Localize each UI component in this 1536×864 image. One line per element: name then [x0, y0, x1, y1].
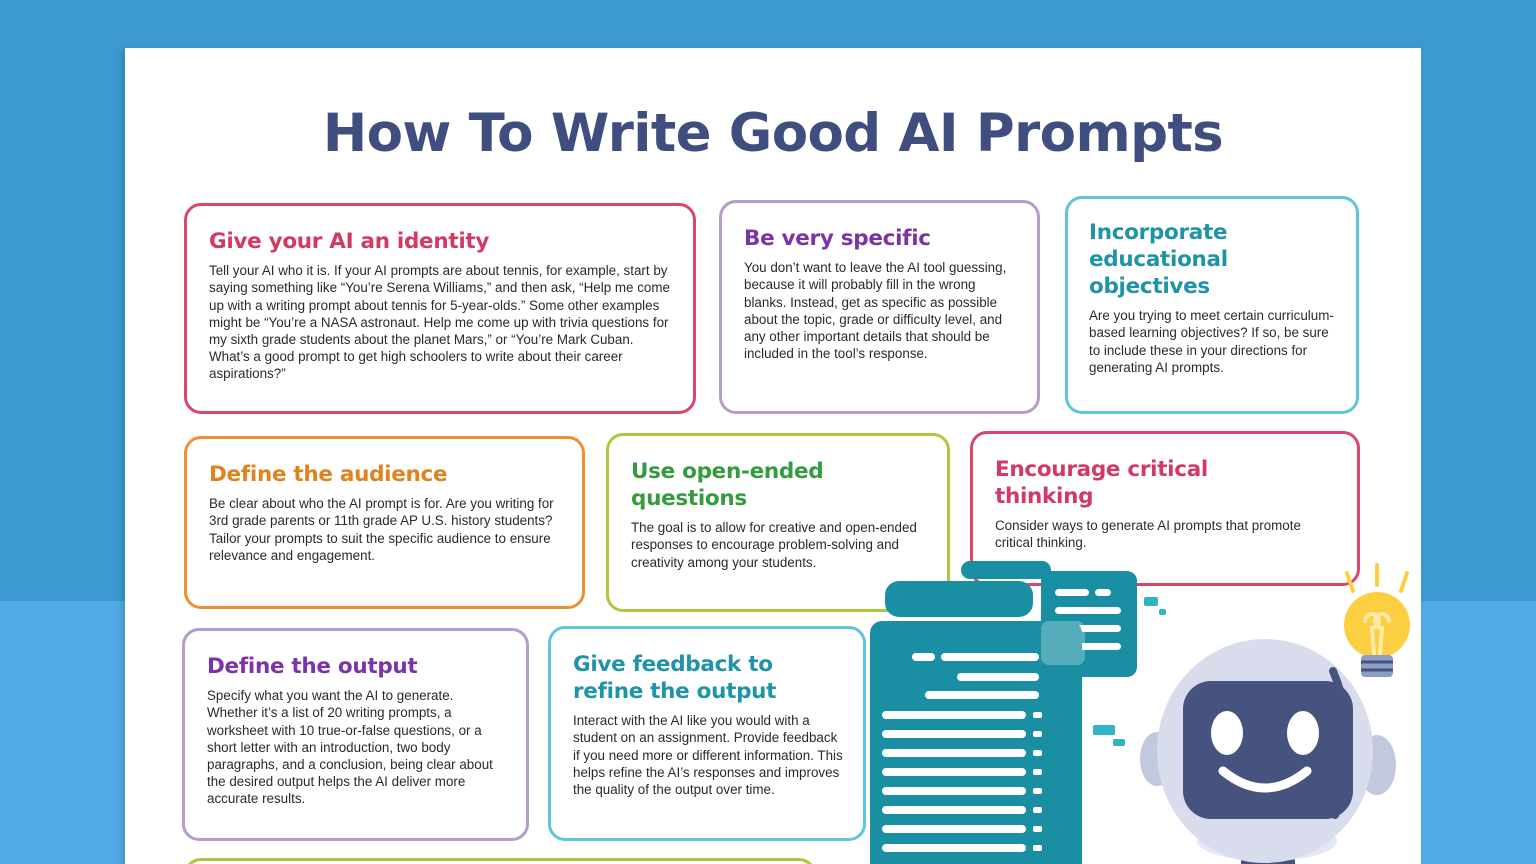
card-be-very-specific: Be very specific You don’t want to leave… [719, 200, 1040, 414]
card-title-identity: Give your AI an identity [209, 228, 673, 255]
card-give-feedback-to-refine-the-output: Give feedback to refine the output Inter… [548, 626, 866, 841]
card-title-critical: Encourage critical thinking [995, 456, 1255, 510]
card-body-critical: Consider ways to generate AI prompts tha… [995, 517, 1337, 551]
doc-list-line-7 [882, 825, 1026, 833]
accent-mark-2 [1159, 609, 1166, 615]
card-title-objectives: Incorporate educational objectives [1089, 219, 1338, 300]
card-define-the-output: Define the output Specify what you want … [182, 628, 529, 841]
doc-list-bullet-7 [1033, 826, 1042, 832]
doc-line-2 [925, 691, 1039, 699]
doc-line-title-b [941, 653, 1039, 661]
robot-eye-right [1287, 711, 1319, 755]
robot-ear-right [1358, 735, 1396, 795]
doc-list-line-5 [882, 787, 1026, 795]
robot-smile [1223, 771, 1307, 788]
robot-neck [1241, 841, 1295, 864]
doc-list-bullet-8 [1033, 845, 1042, 851]
card-body-objectives: Are you trying to meet certain curriculu… [1089, 307, 1338, 376]
card-incorporate-educational-objectives: Incorporate educational objectives Are y… [1065, 196, 1359, 414]
doc-list-line-6 [882, 806, 1026, 814]
poster-screenshot: How To Write Good AI Prompts Give your A… [0, 0, 1536, 864]
card-body-identity: Tell your AI who it is. If your AI promp… [209, 262, 673, 383]
robot-collar [1197, 821, 1337, 861]
robot-ear-left [1140, 732, 1174, 786]
bulb-filament [1365, 614, 1389, 654]
accent-mark-1 [1144, 597, 1158, 606]
doc-list-bullet-1 [1033, 712, 1042, 718]
doc-list-bullet-5 [1033, 788, 1042, 794]
robot-mic-boom [1333, 671, 1349, 815]
doc-list-bullet-3 [1033, 750, 1042, 756]
doc-highlight-block [1041, 621, 1085, 665]
doc-body [870, 621, 1082, 864]
doc-popup-panel [1041, 571, 1137, 677]
popup-line-1b [1095, 589, 1111, 596]
card-body-feedback: Interact with the AI like you would with… [573, 712, 843, 798]
bulb-base [1361, 655, 1393, 677]
card-body-output: Specify what you want the AI to generate… [207, 687, 506, 808]
doc-list-line-2 [882, 730, 1026, 738]
card-encourage-critical-thinking: Encourage critical thinking Consider way… [970, 431, 1360, 586]
popup-line-1a [1055, 589, 1089, 596]
doc-list-line-8 [882, 844, 1026, 852]
accent-mark-4 [1113, 739, 1125, 746]
card-title-openended: Use open-ended questions [631, 458, 871, 512]
card-use-open-ended-questions: Use open-ended questions The goal is to … [606, 433, 950, 612]
popup-line-3 [1055, 625, 1121, 632]
doc-list-line-4 [882, 768, 1026, 776]
poster-page: How To Write Good AI Prompts Give your A… [125, 48, 1421, 864]
card-title-specific: Be very specific [744, 225, 1017, 252]
popup-line-2 [1055, 607, 1121, 614]
card-body-audience: Be clear about who the AI prompt is for.… [209, 495, 562, 564]
bulb-glass [1344, 592, 1410, 658]
doc-line-1 [957, 673, 1039, 681]
robot-head [1157, 639, 1373, 863]
doc-list-bullet-6 [1033, 807, 1042, 813]
card-body-specific: You don’t want to leave the AI tool gues… [744, 259, 1017, 362]
robot-face-screen [1183, 681, 1353, 819]
card-title-output: Define the output [207, 653, 506, 680]
card-define-the-audience: Define the audience Be clear about who t… [184, 436, 585, 609]
accent-mark-3 [1093, 725, 1115, 735]
robot-figure [1117, 639, 1413, 864]
doc-list-line-3 [882, 749, 1026, 757]
doc-list-bullet-2 [1033, 731, 1042, 737]
bulb-ray-right [1401, 573, 1407, 591]
card-title-feedback: Give feedback to refine the output [573, 651, 803, 705]
page-title: How To Write Good AI Prompts [125, 103, 1421, 164]
doc-list-line-1 [882, 711, 1026, 719]
card-give-your-ai-an-identity: Give your AI an identity Tell your AI wh… [184, 203, 696, 414]
card-partial-next-row [184, 858, 816, 864]
card-body-openended: The goal is to allow for creative and op… [631, 519, 927, 571]
robot-eye-left [1211, 711, 1243, 755]
doc-list-bullet-4 [1033, 769, 1042, 775]
popup-line-4 [1055, 643, 1121, 650]
doc-line-title-a [912, 653, 935, 661]
card-title-audience: Define the audience [209, 461, 562, 488]
